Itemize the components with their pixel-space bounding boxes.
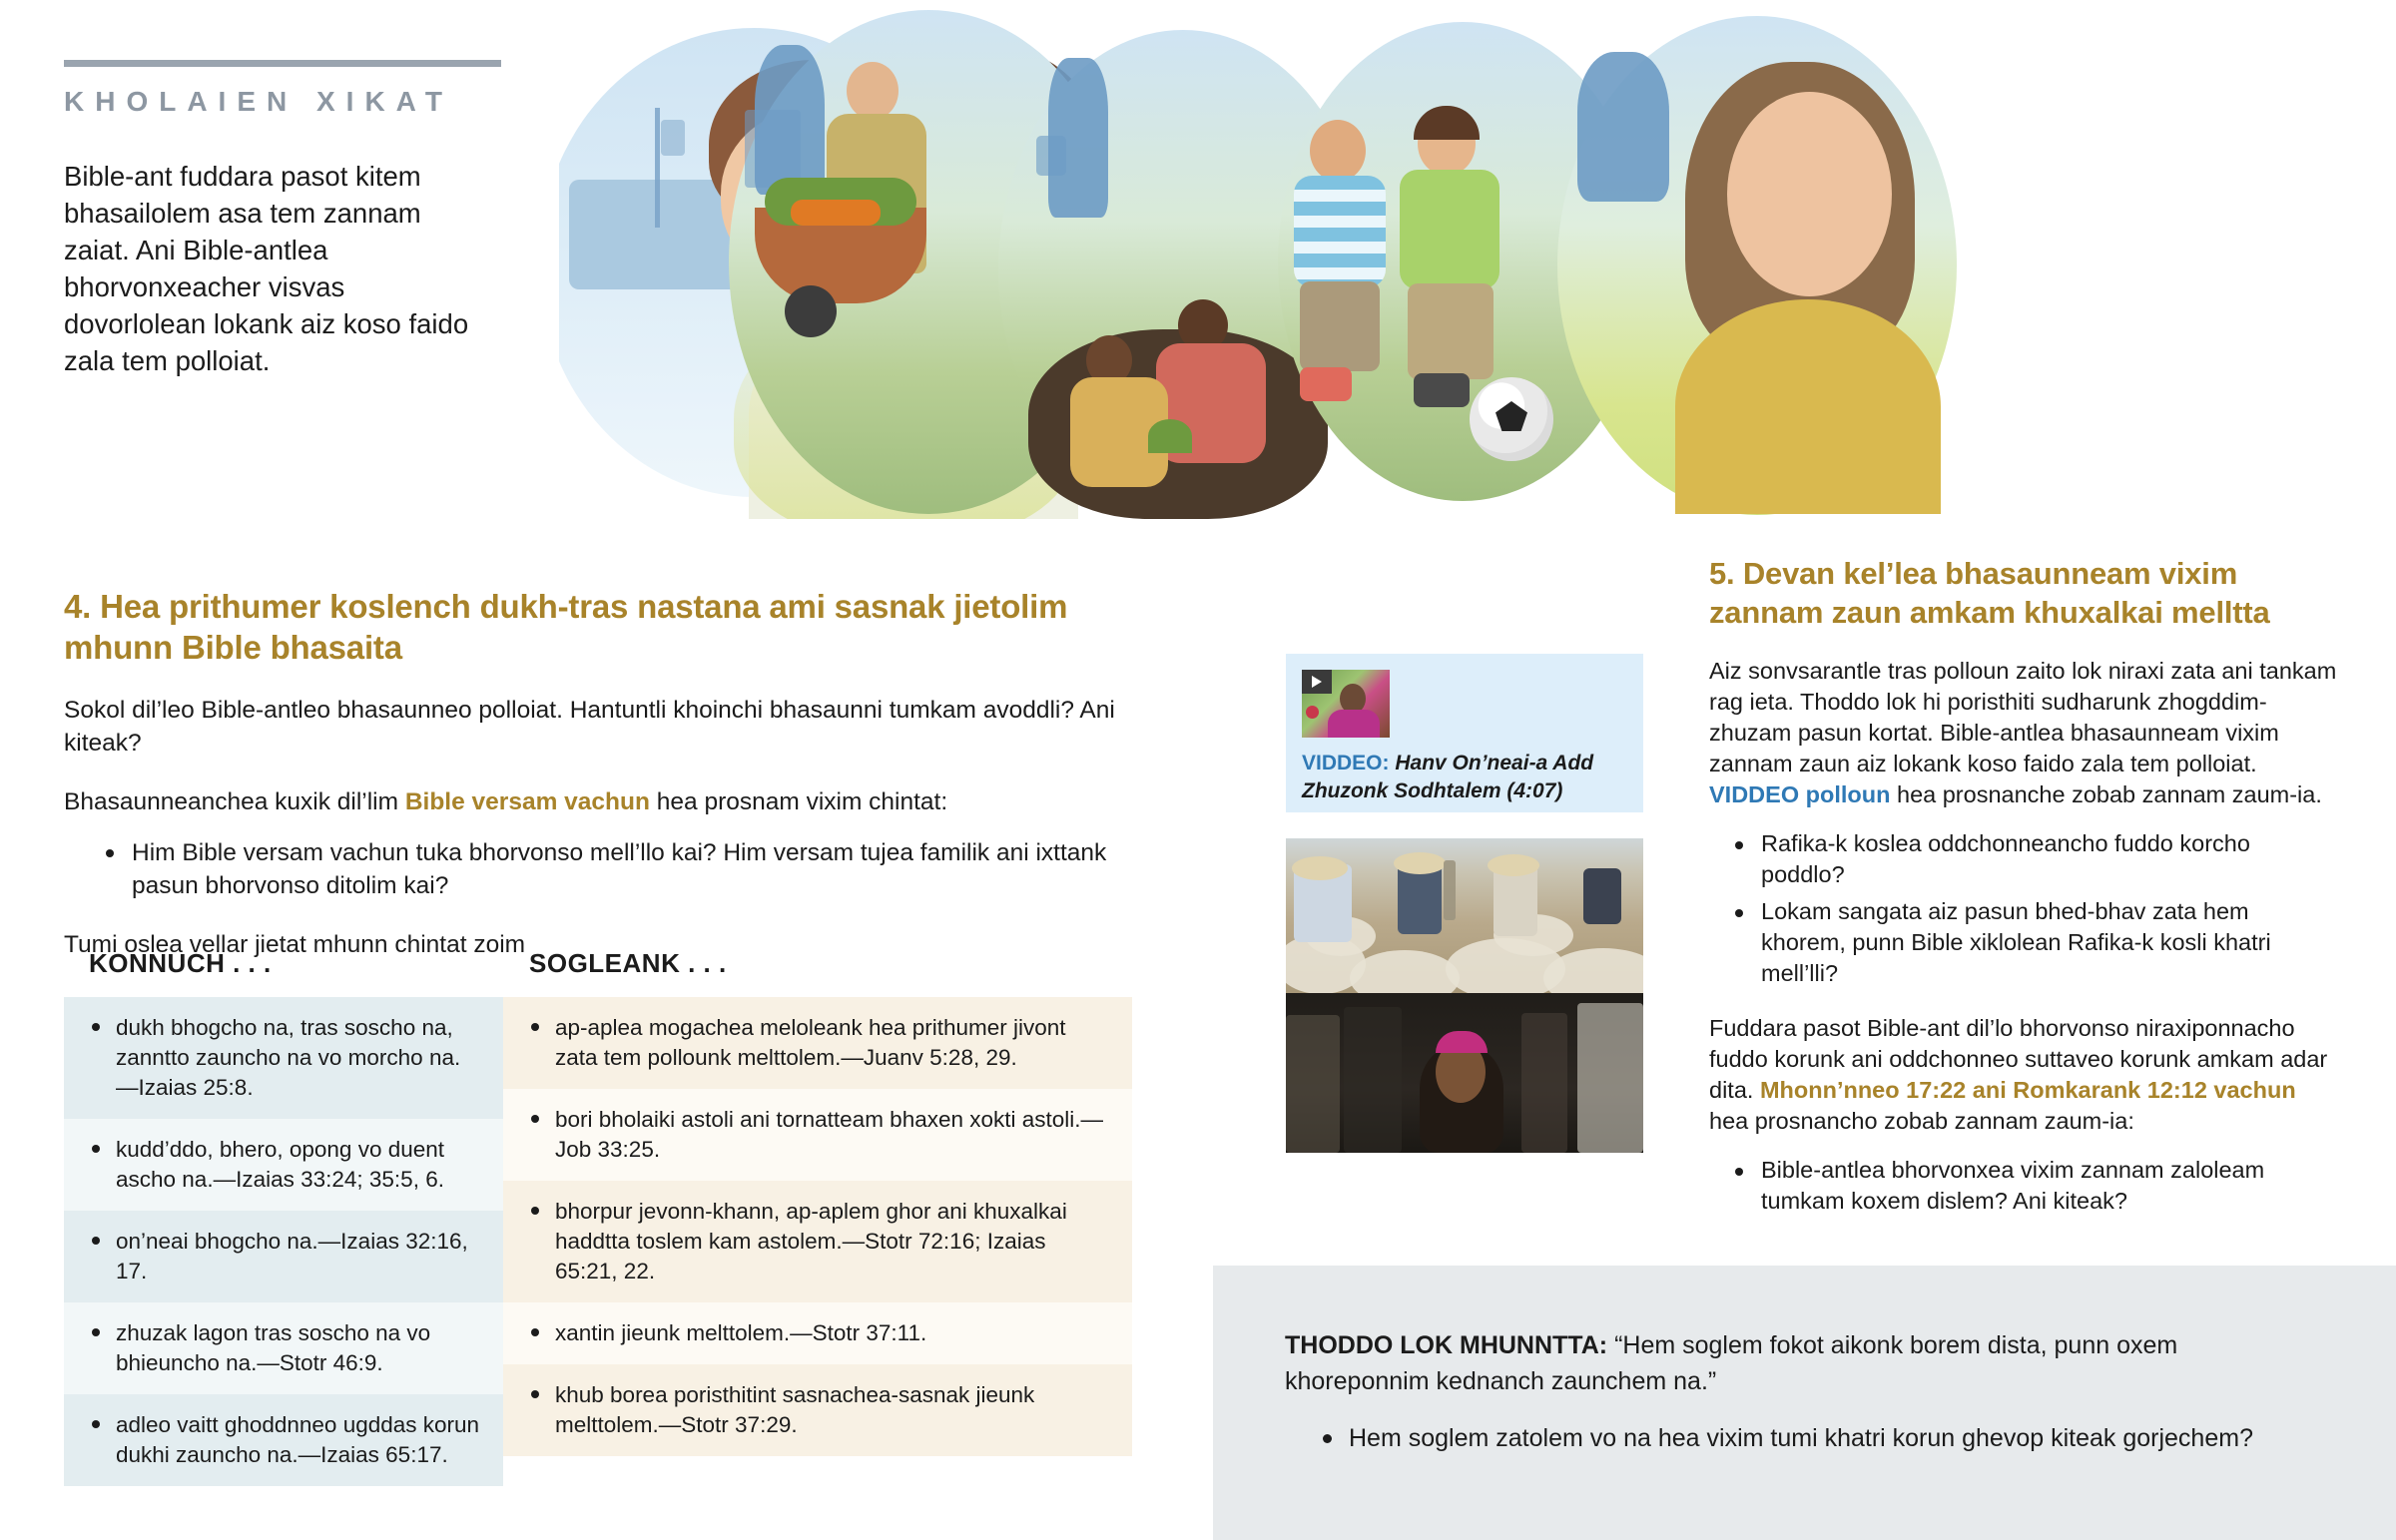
table-col1-header: KONNUCH . . . — [64, 948, 503, 997]
section-5-paragraph-1: Aiz sonvsarantle tras polloun zaito lok … — [1709, 656, 2338, 810]
video-duration: (4:07) — [1506, 779, 1562, 802]
wheelbarrow-carrots — [791, 200, 881, 226]
intro-paragraph: Bible-ant fuddara pasot kitem bhasailole… — [64, 158, 483, 379]
table-column-sogleank: ap-aplea mogachea meloleank hea prithume… — [503, 997, 1132, 1456]
iv-bag-icon — [661, 120, 685, 156]
table-col2-header: SOGLEANK . . . — [503, 948, 1132, 997]
pink-headwrap-icon — [1436, 1031, 1488, 1053]
video-thumbnail[interactable] — [1302, 670, 1390, 738]
testimonial-box: THODDO LOK MHUNNTTA: “Hem soglem fokot a… — [1213, 1266, 2396, 1540]
video-caption: VIDDEO: Hanv On’neai-a Add Zhuzonk Sodht… — [1302, 750, 1621, 805]
s5p1-pre: Aiz sonvsarantle tras polloun zaito lok … — [1709, 658, 2336, 776]
water-bucket-icon — [1036, 136, 1066, 176]
list-item: Hem soglem zatolem vo na hea vixim tumi … — [1323, 1421, 2323, 1455]
table-row: bori bholaiki astoli ani tornatteam bhax… — [503, 1089, 1132, 1181]
hero-illustration — [559, 0, 2396, 519]
header-rule — [64, 60, 501, 67]
table-row: ap-aplea mogachea meloleank hea prithume… — [503, 997, 1132, 1089]
table-row: adleo vaitt ghoddnneo ugddas korun dukhi… — [64, 1394, 503, 1486]
page-root: KHOLAIEN XIKAT Bible-ant fuddara pasot k… — [0, 0, 2396, 1540]
table-row: zhuzak lagon tras soscho na vo bhieuncho… — [64, 1302, 503, 1394]
testimonial-question-list: Hem soglem zatolem vo na hea vixim tumi … — [1323, 1421, 2323, 1455]
boy-striped-shoe-icon — [1300, 367, 1352, 401]
s4p2-post: hea prosnam vixim chintat: — [650, 788, 947, 815]
section-5: 5. Devan kel’lea bhasaunneam vixim zanna… — [1709, 554, 2338, 1223]
s4p2-pre: Bhasaunneanchea kuxik dil’lim — [64, 788, 405, 815]
list-item: Bible-antlea bhorvonxea vixim zannam zal… — [1735, 1155, 2338, 1217]
s5p2-post: hea prosnancho zobab zannam zaum-ia: — [1709, 1108, 2134, 1134]
section-4: 4. Hea prithumer koslench dukh-tras nast… — [64, 586, 1142, 961]
video-subject-jacket — [1328, 710, 1380, 738]
testimonial-label: THODDO LOK MHUNNTTA: — [1285, 1331, 1607, 1359]
section-5-question-list-1: Rafika-k koslea oddchonneancho fuddo kor… — [1735, 828, 2338, 989]
boy-striped-figure — [1286, 120, 1394, 419]
kneeling-boy-figure — [1070, 335, 1170, 495]
video-label: VIDDEO: — [1302, 752, 1390, 774]
crowd-figure — [1344, 1007, 1402, 1153]
boy-striped-shorts — [1300, 281, 1380, 371]
crowd-figure — [1577, 1003, 1643, 1153]
boy-green-shorts — [1408, 283, 1494, 379]
table-row: xantin jieunk melttolem.—Stotr 37:11. — [503, 1302, 1132, 1364]
video-link[interactable]: VIDDEO polloun — [1709, 781, 1890, 807]
seedling-icon — [1148, 419, 1192, 453]
list-item: Lokam sangata aiz pasun bhed-bhav zata h… — [1735, 896, 2338, 989]
testimonial-paragraph: THODDO LOK MHUNNTTA: “Hem soglem fokot a… — [1285, 1327, 2323, 1399]
cotton-plant-stalk — [1444, 860, 1456, 920]
boy-striped-shirt — [1294, 176, 1386, 287]
cotton-cluster — [1350, 950, 1460, 993]
crowd-figure — [1521, 1013, 1567, 1153]
section-5-heading: 5. Devan kel’lea bhasaunneam vixim zanna… — [1709, 554, 2338, 632]
table-column-konnuch: dukh bhogcho na, tras soscho na, zanntto… — [64, 997, 503, 1486]
sun-hat-icon — [1394, 852, 1446, 874]
section-4-paragraph-1: Sokol dil’leo Bible-antleo bhasaunneo po… — [64, 694, 1142, 760]
portrait-woman-face — [1727, 92, 1892, 296]
table-header-row: KONNUCH . . . SOGLEANK . . . — [64, 948, 1152, 997]
sun-hat-icon — [1292, 856, 1348, 880]
table-row: bhorpur jevonn-khann, ap-aplem ghor ani … — [503, 1181, 1132, 1302]
section-4-question-list: Him Bible versam vachun tuka bhorvonso m… — [106, 836, 1142, 902]
photo-cotton-field — [1286, 838, 1643, 993]
bible-verses-link[interactable]: Bible versam vachun — [405, 788, 650, 815]
boy-green-hair — [1414, 106, 1480, 140]
section-5-paragraph-2: Fuddara pasot Bible-ant dil’lo bhorvonso… — [1709, 1013, 2338, 1137]
list-item: Him Bible versam vachun tuka bhorvonso m… — [106, 836, 1142, 902]
testimonial-inner: THODDO LOK MHUNNTTA: “Hem soglem fokot a… — [1285, 1327, 2323, 1455]
photo-woman-gathering — [1286, 993, 1643, 1153]
wheelbarrow-wheel-icon — [785, 285, 837, 337]
field-worker — [1583, 868, 1621, 924]
table-body: dukh bhogcho na, tras soscho na, zanntto… — [64, 997, 1152, 1486]
list-item: Rafika-k koslea oddchonneancho fuddo kor… — [1735, 828, 2338, 890]
boy-striped-head — [1310, 120, 1366, 182]
comparison-table: KONNUCH . . . SOGLEANK . . . dukh bhogch… — [64, 948, 1152, 1486]
sun-hat-icon — [1488, 854, 1539, 876]
page-kicker: KHOLAIEN XIKAT — [64, 86, 663, 118]
table-row: khub borea poristhitint sasnachea-sasnak… — [503, 1364, 1132, 1456]
boy-green-shoe-icon — [1414, 373, 1470, 407]
table-row: on’neai bhogcho na.—Izaias 32:16, 17. — [64, 1211, 503, 1302]
rose-decoration-icon — [1306, 706, 1319, 719]
walker-frame-icon — [745, 110, 801, 188]
section-4-paragraph-2: Bhasaunneanchea kuxik dil’lim Bible vers… — [64, 785, 1142, 818]
section-4-heading: 4. Hea prithumer koslench dukh-tras nast… — [64, 586, 1142, 668]
table-row: dukh bhogcho na, tras soscho na, zanntto… — [64, 997, 503, 1119]
section-5-question-list-2: Bible-antlea bhorvonxea vixim zannam zal… — [1735, 1155, 2338, 1217]
boy-green-shirt — [1400, 170, 1499, 289]
scripture-link[interactable]: Mhonn’nneo 17:22 ani Romkarank 12:12 vac… — [1760, 1077, 2296, 1103]
portrait-woman-top — [1675, 299, 1941, 514]
play-icon[interactable] — [1302, 670, 1332, 694]
distressed-person-silhouette-icon — [1577, 52, 1669, 202]
video-card[interactable]: VIDDEO: Hanv On’neai-a Add Zhuzonk Sodht… — [1286, 654, 1643, 812]
table-row: kudd’ddo, bhero, opong vo duent ascho na… — [64, 1119, 503, 1211]
crowd-figure — [1286, 1015, 1340, 1153]
iv-stand-icon — [655, 108, 660, 228]
s5p1-post: hea prosnanche zobab zannam zaum-ia. — [1890, 781, 2321, 807]
farmer-head — [847, 62, 898, 120]
